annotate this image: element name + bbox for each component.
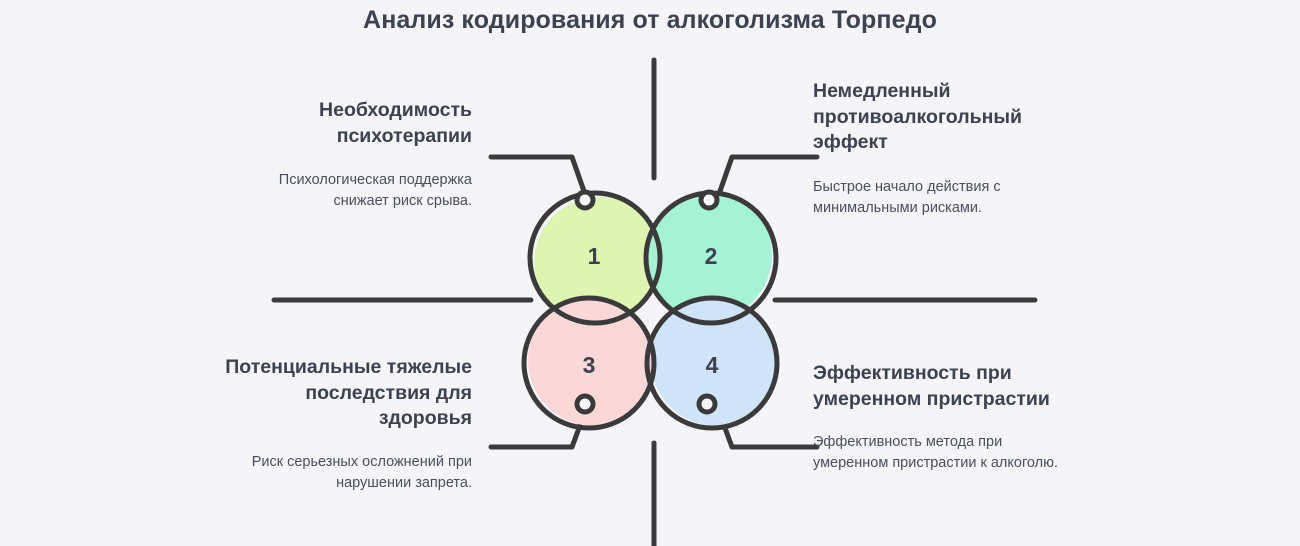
quadrant-top-left-description: Психологическая поддержка снижает риск с… [222, 170, 472, 211]
ring-marker-4-icon [699, 396, 715, 412]
quadrant-bottom-right: Эффективность при умеренном пристрастии … [813, 361, 1071, 474]
quadrant-top-right: Немедленный противоалкогольный эффект Бы… [813, 79, 1071, 218]
quadrant-bottom-left: Потенциальные тяжелые последствия для зд… [222, 355, 472, 493]
connector-top-left [491, 157, 585, 194]
quadrant-top-right-title: Немедленный противоалкогольный эффект [813, 79, 1071, 156]
quadrant-bottom-right-description: Эффективность метода при умеренном прист… [813, 432, 1071, 473]
ring-marker-1-icon [577, 192, 593, 208]
ring-marker-3-icon [577, 396, 593, 412]
diagram-graphic [0, 0, 1300, 546]
infographic-canvas: Анализ кодирования от алкоголизма Торпед… [0, 0, 1300, 546]
quadrant-bottom-left-description: Риск серьезных осложнений при нарушении … [222, 452, 472, 493]
quadrant-top-right-description: Быстрое начало действия с минимальными р… [813, 177, 1071, 218]
quadrant-bottom-right-title: Эффективность при умеренном пристрастии [813, 361, 1071, 412]
quadrant-top-left: Необходимость психотерапии Психологическ… [222, 98, 472, 212]
quadrant-top-left-title: Необходимость психотерапии [222, 98, 472, 149]
ring-marker-2-icon [701, 192, 717, 208]
connector-top-right [719, 157, 817, 194]
quadrant-bottom-left-title: Потенциальные тяжелые последствия для зд… [222, 355, 472, 432]
